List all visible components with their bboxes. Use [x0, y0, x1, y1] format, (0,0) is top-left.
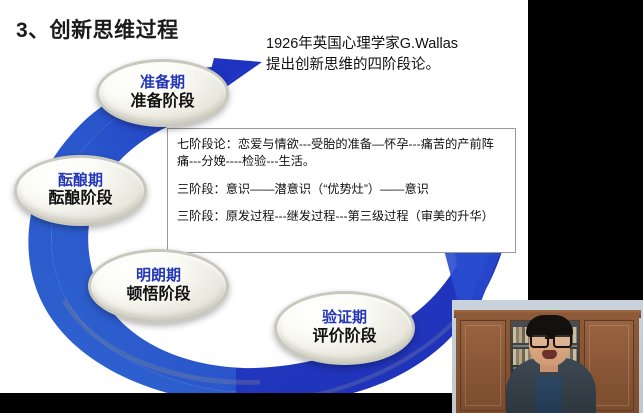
presenter-shirt [536, 376, 562, 413]
letterbox-right [528, 0, 643, 300]
presenter-glasses-left-lens [530, 333, 549, 348]
header-note-line-1: 1926年英国心理学家G.Wallas [266, 34, 528, 55]
stage-illumination-subtitle: 顿悟阶段 [126, 286, 190, 304]
letterbox-bottom [0, 393, 452, 413]
detail-paragraph-2: 三阶段：意识——潜意识（“优势灶”）——意识 [177, 181, 506, 198]
stage-illumination-title: 明朗期 [136, 268, 181, 285]
presenter-glasses-right-lens [553, 333, 572, 348]
detail-paragraph-3: 三阶段：原发过程---继发过程---第三级过程（审美的升华） [177, 208, 506, 225]
stage-verification: 验证期 评价阶段 [274, 291, 415, 365]
stage-verification-subtitle: 评价阶段 [312, 328, 376, 346]
bookcase-door-left [460, 320, 506, 411]
header-note: 1926年英国心理学家G.Wallas 提出创新思维的四阶段论。 [266, 34, 528, 76]
screen-capture: 3、创新思维过程 1926年英国心理学家G.Wallas 提出创新思维的四阶段论… [0, 0, 643, 413]
stage-verification-title: 验证期 [322, 310, 367, 327]
stage-preparation-subtitle: 准备阶段 [130, 93, 194, 111]
stage-illumination: 明朗期 顿悟阶段 [88, 249, 229, 323]
stage-preparation-title: 准备期 [140, 75, 185, 92]
presenter-mouth [542, 350, 557, 359]
presentation-slide: 3、创新思维过程 1926年英国心理学家G.Wallas 提出创新思维的四阶段论… [0, 0, 528, 393]
stage-incubation: 酝酿期 酝酿阶段 [14, 155, 147, 226]
detail-paragraph-1: 七阶段论：恋爱与情欲---受胎的准备—怀孕---痛苦的产前阵痛---分娩----… [177, 136, 506, 170]
detail-text-box: 七阶段论：恋爱与情欲---受胎的准备—怀孕---痛苦的产前阵痛---分娩----… [167, 128, 516, 253]
stage-preparation: 准备期 准备阶段 [96, 59, 229, 127]
presenter-video[interactable] [452, 300, 643, 413]
stage-incubation-title: 酝酿期 [58, 173, 103, 190]
stage-incubation-subtitle: 酝酿阶段 [48, 190, 112, 208]
slide-title: 3、创新思维过程 [16, 14, 179, 44]
presenter-glasses-bridge [545, 337, 553, 339]
header-note-line-2: 提出创新思维的四阶段论。 [266, 55, 528, 76]
